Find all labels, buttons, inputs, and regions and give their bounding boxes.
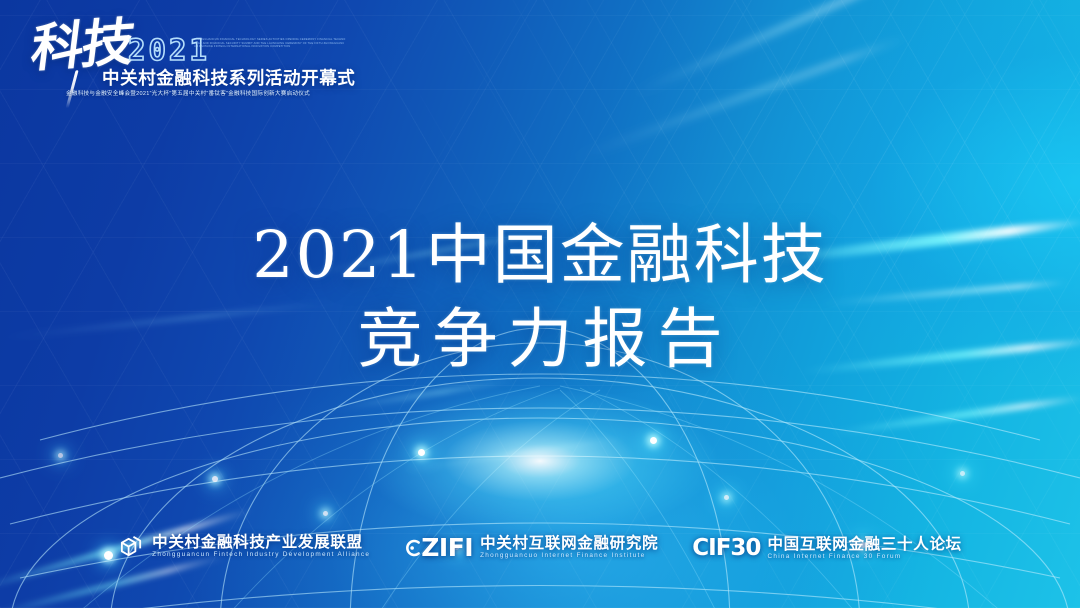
sponsor-name-en: Zhongguancun Fintech Industry Developmen…: [152, 552, 370, 558]
network-node-icon: [650, 437, 657, 444]
title-line-2: 竞争力报告: [0, 298, 1080, 382]
network-node-icon: [960, 471, 965, 476]
page-title: 2021中国金融科技 竞争力报告: [0, 214, 1080, 382]
network-node-icon: [724, 495, 729, 500]
sponsor-text-block: 中关村互联网金融研究院 Zhongguancuo Internet Financ…: [480, 536, 658, 559]
sponsor-cif30-forum: CIF30 中国互联网金融三十人论坛 China Internet Financ…: [692, 537, 962, 560]
sponsor-logo-bar: 中关村金融科技产业发展联盟 Zhongguancun Fintech Indus…: [0, 533, 1080, 560]
sponsor-zgc-fintech-alliance: 中关村金融科技产业发展联盟 Zhongguancun Fintech Indus…: [118, 533, 370, 560]
sponsor-name-cn: 中关村金融科技产业发展联盟: [152, 535, 370, 551]
brush-calligraphy-logo: 科技: [28, 17, 136, 76]
cif30-wordmark-icon: CIF30: [692, 537, 760, 560]
event-subtitle: 金融科技与金融安全峰会暨2021“光大杯”第五届中关村“番钛客”金融科技国际创新…: [66, 92, 310, 98]
event-title: 中关村金融科技系列活动开幕式: [102, 70, 355, 88]
sponsor-text-block: 中国互联网金融三十人论坛 China Internet Finance 30 F…: [767, 537, 961, 560]
sponsor-name-cn: 中国互联网金融三十人论坛: [767, 537, 961, 553]
poster-canvas: 科技 2021 ZHONGGUANCUN FINANCIAL TECHNOLOG…: [0, 0, 1080, 608]
network-node-icon: [418, 449, 425, 456]
title-line-1: 2021中国金融科技: [0, 214, 1080, 298]
cube-icon: [118, 533, 145, 560]
zifi-wordmark-text: ZIFI: [421, 535, 473, 560]
sponsor-name-cn: 中关村互联网金融研究院: [480, 536, 658, 552]
network-node-icon: [323, 511, 328, 516]
network-node-icon: [212, 476, 218, 482]
sponsor-text-block: 中关村金融科技产业发展联盟 Zhongguancun Fintech Indus…: [152, 535, 370, 558]
network-node-icon: [58, 453, 63, 458]
sponsor-name-en: Zhongguancuo Internet Finance Institute: [480, 553, 658, 559]
cube-icon-svg: [118, 533, 145, 560]
micro-english-caption: ZHONGGUANCUN FINANCIAL TECHNOLOGY SERIES…: [194, 38, 346, 49]
sponsor-name-en: China Internet Finance 30 Forum: [767, 554, 961, 560]
event-logo-lockup: 科技 2021 ZHONGGUANCUN FINANCIAL TECHNOLOG…: [24, 22, 354, 108]
sponsor-zgc-internet-finance-institute: ZIFI 中关村互联网金融研究院 Zhongguancuo Internet F…: [404, 535, 658, 560]
c-dot-icon-svg: [404, 538, 421, 558]
cif30-wordmark-text: CIF30: [692, 537, 760, 560]
zifi-wordmark-icon: ZIFI: [404, 535, 473, 560]
